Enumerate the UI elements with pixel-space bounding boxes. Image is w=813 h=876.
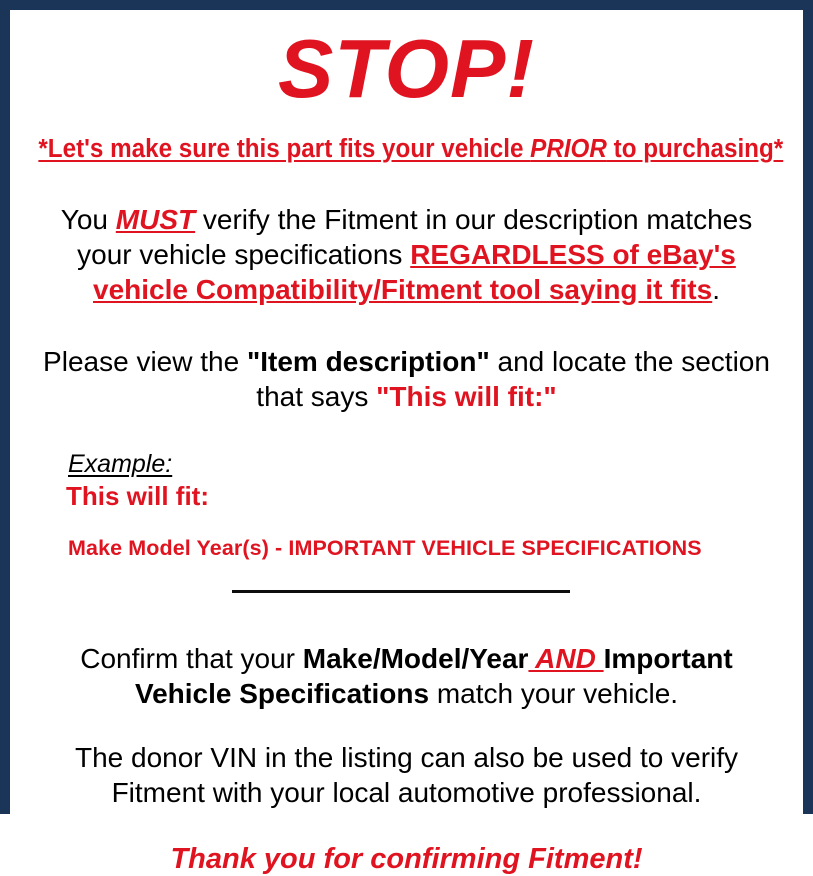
p3-segment-end: match your vehicle.	[429, 678, 678, 709]
closing-thank-you: Thank you for confirming Fitment!	[19, 842, 794, 876]
example-fit-heading: This will fit:	[66, 481, 794, 511]
p2-this-will-fit-emphasis: "This will fit:"	[376, 381, 557, 412]
fitment-tagline: *Let's make sure this part fits your veh…	[38, 134, 774, 164]
example-spec-line: Make Model Year(s) - IMPORTANT VEHICLE S…	[68, 535, 794, 561]
p3-segment-lead: Confirm that your	[80, 643, 303, 674]
notice-body: STOP! *Let's make sure this part fits yo…	[10, 21, 803, 815]
p2-segment-lead: Please view the	[43, 346, 247, 377]
p1-segment-end: .	[712, 274, 720, 305]
example-label: Example:	[68, 450, 172, 478]
confirm-paragraph: Confirm that your Make/Model/Year AND Im…	[19, 641, 794, 711]
p3-make-model-year-emphasis: Make/Model/Year	[303, 643, 529, 674]
divider-rule	[232, 590, 570, 593]
p3-and-emphasis: AND	[528, 643, 603, 674]
p1-segment-lead: You	[61, 204, 116, 235]
item-description-paragraph: Please view the "Item description" and l…	[19, 344, 794, 414]
p2-item-description-emphasis: "Item description"	[247, 346, 490, 377]
tagline-lead: *Let's make sure this part fits your veh…	[38, 135, 530, 163]
stop-headline: STOP!	[19, 21, 794, 117]
verify-fitment-paragraph: You MUST verify the Fitment in our descr…	[19, 202, 794, 307]
donor-vin-paragraph: The donor VIN in the listing can also be…	[19, 740, 794, 810]
p1-must-emphasis: MUST	[116, 204, 195, 235]
section-divider	[19, 587, 794, 597]
example-block: Example: This will fit: Make Model Year(…	[19, 450, 794, 561]
tagline-emphasis: PRIOR	[530, 135, 607, 163]
tagline-trail: to purchasing*	[607, 135, 783, 163]
fitment-notice-card: STOP! *Let's make sure this part fits yo…	[0, 0, 813, 814]
